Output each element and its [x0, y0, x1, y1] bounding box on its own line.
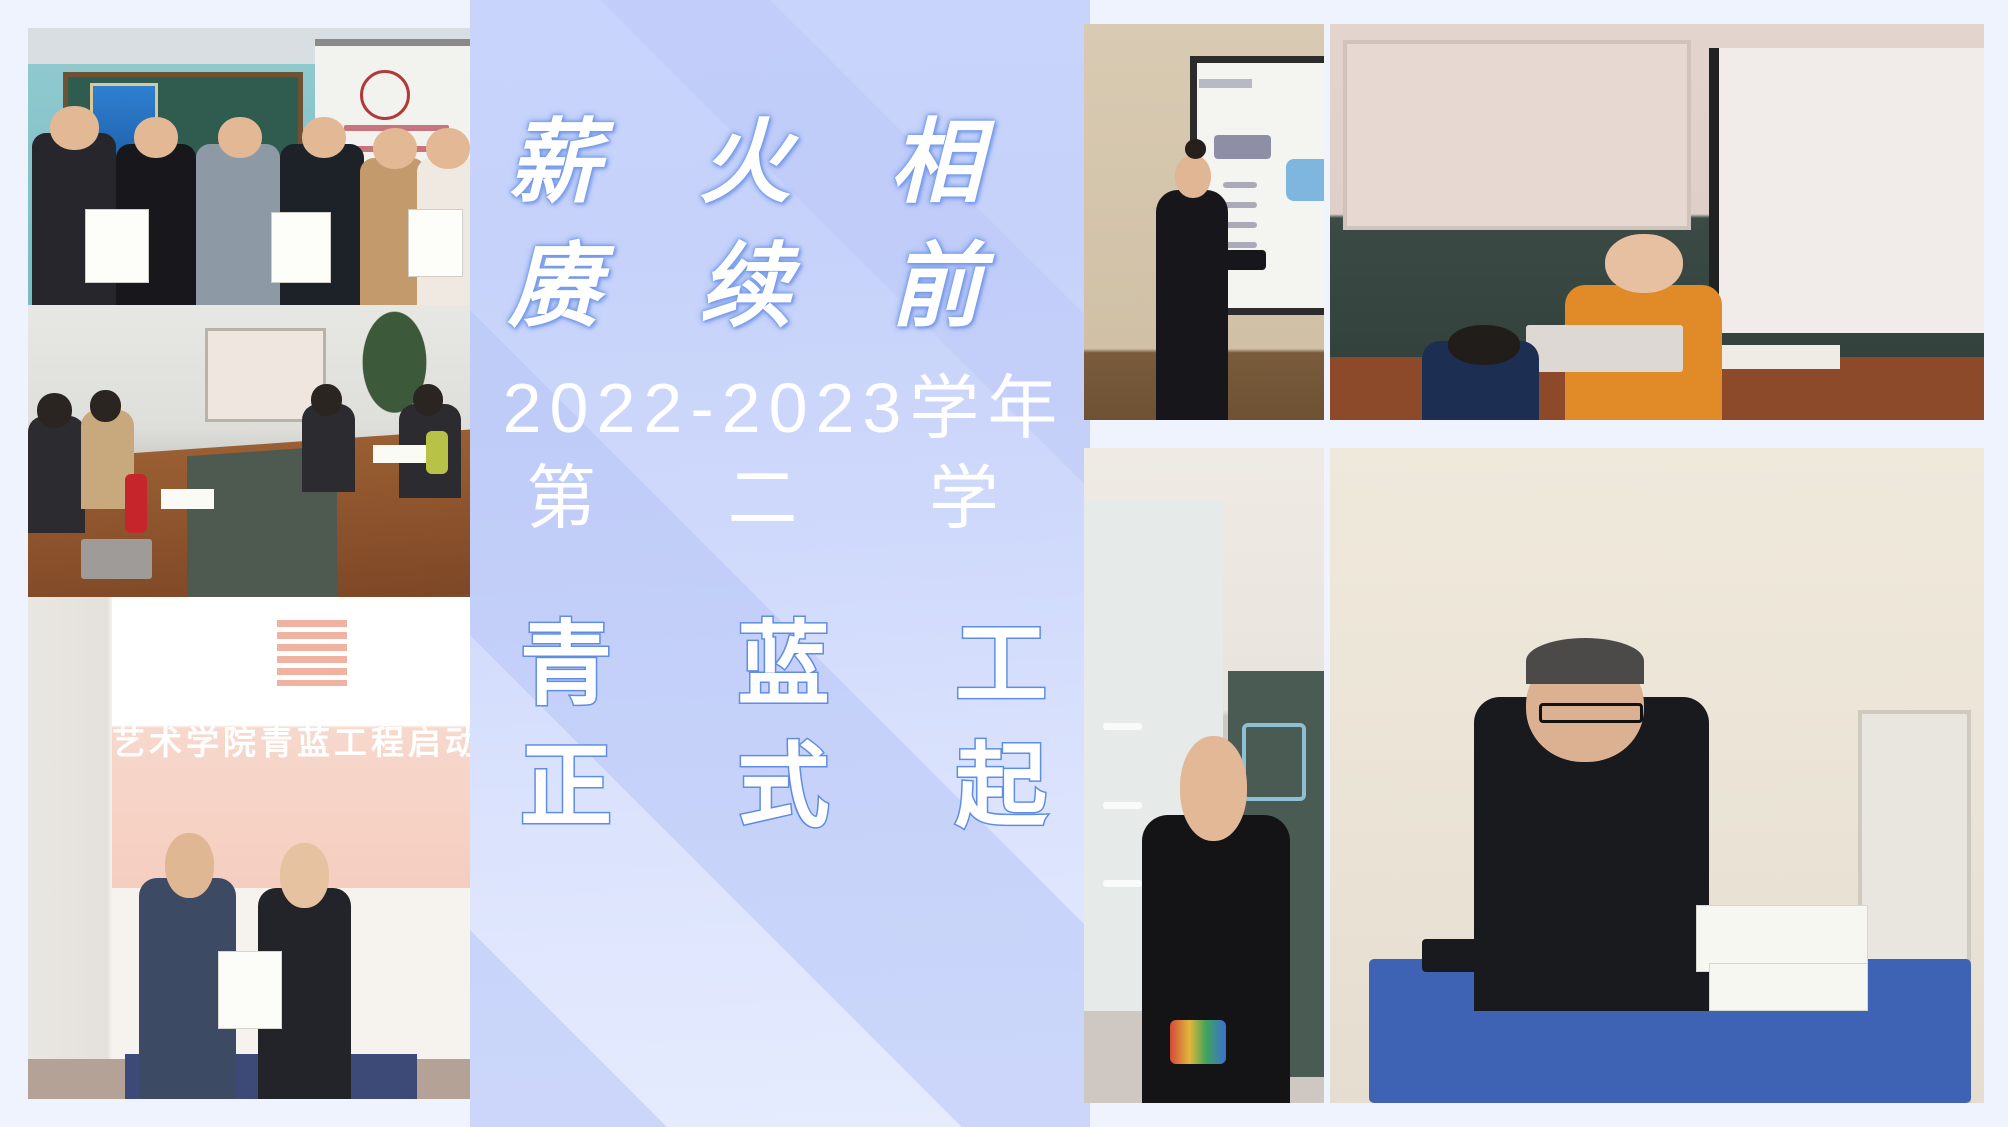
photo-teacher-orange-jacket[interactable]: 橙衣教师在黑板前授课 — [1330, 24, 1984, 420]
program-name-line-2: 正 式 起 航 — [470, 712, 1090, 845]
slide-bullet-4 — [1223, 242, 1257, 248]
launch-person-right-head — [280, 843, 329, 908]
paper-sheet-2 — [373, 445, 426, 463]
person-2-head — [134, 117, 178, 159]
left-photo-column: 六位教师手持协议书合影留念 — [28, 28, 470, 1099]
attendee-right-1-head — [311, 384, 342, 416]
tea-bottle — [426, 431, 448, 475]
teacher-head — [1605, 234, 1683, 293]
person-6-head — [426, 128, 470, 170]
slide-item-1 — [1103, 723, 1141, 730]
slide-bullet-2 — [1223, 202, 1257, 208]
attendee-right-1 — [302, 404, 355, 492]
paper-sheet-1 — [161, 489, 214, 509]
open-book — [1722, 345, 1840, 369]
person-3-head — [218, 117, 262, 159]
attendee-right-2-head — [413, 384, 444, 416]
slide-section-chip — [1214, 135, 1272, 159]
right-photo-grid: 黑衣教师在白板前讲解 橙衣教师在黑板前授课 — [1084, 24, 1984, 1103]
seated-student-head — [1448, 325, 1520, 365]
agreement-document-1 — [85, 209, 149, 283]
hoodie-crest-logo-icon — [1170, 1020, 1226, 1064]
institution-logo-icon — [277, 620, 347, 686]
headline-line-2: 赓 续 前 行 — [470, 212, 1090, 345]
chalk-writing — [1242, 723, 1306, 801]
teacher-arm — [1422, 939, 1540, 972]
photo-teacher-with-glasses[interactable]: 戴眼镜教师在讲台整理材料 — [1330, 448, 1984, 1103]
slide-callout-box — [1286, 159, 1324, 201]
agreement-document-2 — [271, 212, 330, 283]
eyeglasses-icon — [1539, 703, 1643, 723]
whiteboard — [1343, 40, 1691, 230]
slide-bullet-1 — [1223, 182, 1257, 188]
stacked-papers-2 — [1709, 963, 1868, 1011]
photo-signing-ceremony[interactable]: 六位教师手持协议书合影留念 — [28, 28, 470, 305]
academic-year-label: 2022-2023学年 — [470, 352, 1090, 453]
photo-student-presenter[interactable]: 黑色卫衣学员在投影前汇报 — [1084, 448, 1324, 1103]
event-banner: 艺术学院青蓝工程启动大会 — [112, 597, 470, 888]
presenter-head — [1175, 155, 1211, 199]
university-seal-icon — [360, 70, 410, 120]
attendee-left-1-head — [37, 393, 72, 428]
slide-bullet-3 — [1223, 222, 1257, 228]
photo-female-presenter[interactable]: 黑衣教师在白板前讲解 — [1084, 24, 1324, 420]
projection-screen — [1709, 48, 1984, 333]
photo-conference-meeting[interactable]: 长条会议桌旁参会教师 — [28, 305, 470, 597]
teacher-hair — [1526, 638, 1644, 684]
red-thermos — [125, 474, 147, 532]
attendee-left-1 — [28, 416, 85, 533]
slide-item-2 — [1103, 802, 1141, 809]
agreement-document-3 — [408, 209, 463, 277]
stacked-papers-1 — [1696, 905, 1868, 973]
slide-item-3 — [1103, 880, 1141, 887]
laptop — [81, 539, 152, 580]
presenter-extended-arm — [1223, 250, 1266, 270]
photo-launch-ceremony[interactable]: 艺术学院青蓝工程启动大会 两位教师在启动大会展板前交换协议 — [28, 597, 470, 1099]
laptop — [1526, 325, 1683, 373]
launch-agreement-document — [218, 951, 282, 1028]
person-4-head — [302, 117, 346, 159]
presenter-body — [1156, 190, 1228, 420]
slide-title-bar — [1199, 79, 1252, 88]
headline-line-1: 薪 火 相 传 — [470, 88, 1090, 221]
person-1-head — [50, 106, 99, 150]
banner-title: 艺术学院青蓝工程启动大会 — [112, 716, 470, 764]
program-name-line-1: 青 蓝 工 程 — [470, 590, 1090, 723]
person-3 — [196, 144, 280, 305]
launch-person-left-head — [165, 833, 214, 898]
poster-root: 六位教师手持协议书合影留念 — [0, 0, 2008, 1127]
attendee-left-2-head — [90, 390, 121, 422]
presenter-hair-bun — [1185, 139, 1207, 159]
center-title-panel: 薪 火 相 传 赓 续 前 行 2022-2023学年 第 二 学 期 青 蓝 … — [470, 0, 1090, 1127]
student-head — [1180, 736, 1247, 841]
semester-label: 第 二 学 期 — [470, 442, 1090, 543]
person-5-head — [373, 128, 417, 170]
